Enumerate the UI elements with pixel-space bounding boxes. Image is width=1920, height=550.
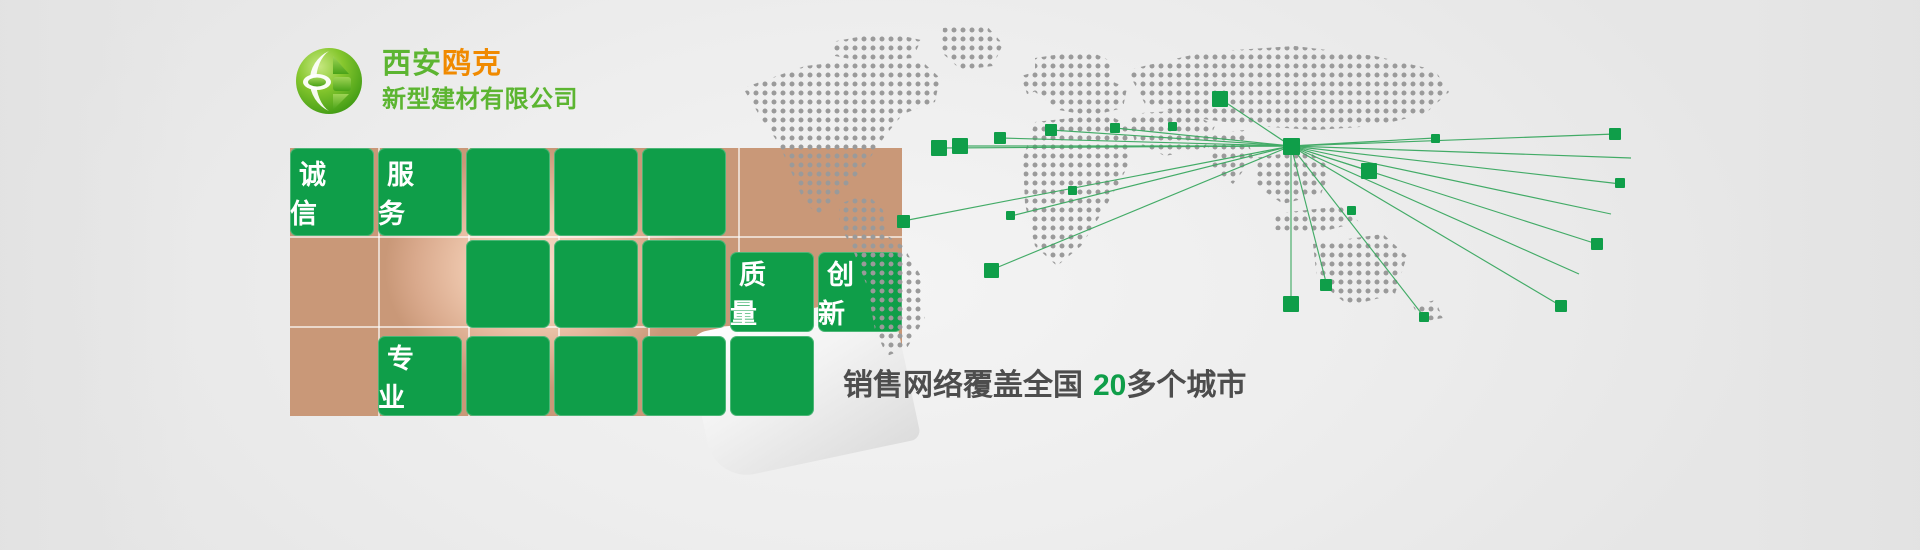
value-tile-blank-r2c5 <box>642 240 726 328</box>
value-tile-blank-r1c4 <box>554 148 638 236</box>
company-name-line2: 新型建材有限公司 <box>382 88 578 112</box>
value-tile-label: 服 务 <box>378 153 462 231</box>
company-name-brand: 鸥克 <box>442 48 502 80</box>
value-tile-integrity: 诚 信 <box>290 148 374 236</box>
world-sales-network-map <box>735 18 1635 358</box>
world-map-svg <box>735 18 1635 358</box>
tagline-number: 20 <box>1093 369 1126 402</box>
tagline-suffix: 多个城市 <box>1126 369 1246 402</box>
value-tile-blank-r1c5 <box>642 148 726 236</box>
company-logo: 西安鸥克 新型建材有限公司 <box>292 44 578 118</box>
tagline-prefix: 销售网络覆盖全国 <box>843 369 1083 402</box>
company-name-line1: 西安鸥克 <box>382 50 578 79</box>
value-tile-label: 诚 信 <box>290 153 374 231</box>
value-tile-blank-r3c5 <box>642 336 726 416</box>
green-globe-leaf-logo-icon <box>292 44 366 118</box>
value-tile-label: 专 业 <box>378 337 462 415</box>
company-name-text: 西安鸥克 新型建材有限公司 <box>382 50 578 112</box>
value-tile-blank-r2c4 <box>554 240 638 328</box>
value-tile-profession: 专 业 <box>378 336 462 416</box>
value-tile-service: 服 务 <box>378 148 462 236</box>
map-landmass-dots <box>735 18 1635 358</box>
value-tile-blank-r3c3 <box>466 336 550 416</box>
promo-banner: 诚 信 服 务 质 量 创 新 专 业 <box>0 0 1920 550</box>
sales-network-tagline: 销售网络覆盖全国20多个城市 <box>843 360 1246 404</box>
value-tile-blank-r3c4 <box>554 336 638 416</box>
value-tile-blank-r1c3 <box>466 148 550 236</box>
network-connection-lines <box>903 98 1631 318</box>
company-name-city: 西安 <box>382 48 442 80</box>
value-tile-blank-r2c3 <box>466 240 550 328</box>
